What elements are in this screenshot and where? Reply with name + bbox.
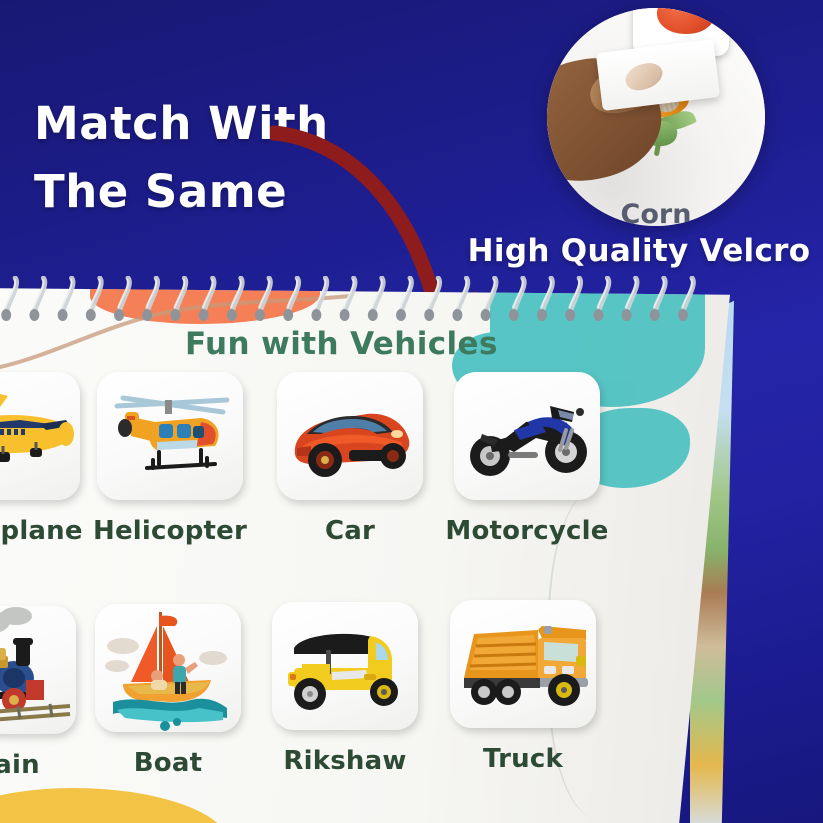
aeroplane-icon — [0, 372, 80, 500]
velcro-photo-inset: Corn — [547, 8, 765, 226]
vehicle-cell-car[interactable]: Car — [260, 372, 440, 546]
headline: Match With The Same — [34, 90, 454, 226]
boat-card[interactable] — [95, 604, 241, 732]
vehicle-label: Helicopter — [80, 516, 260, 546]
vehicle-row-1: Aeroplane — [0, 372, 705, 602]
car-icon — [277, 372, 423, 500]
velcro-caption: High Quality Velcro — [455, 233, 823, 269]
boat-icon — [95, 604, 241, 732]
vehicle-label: Rikshaw — [255, 746, 435, 776]
train-icon — [0, 606, 76, 734]
car-card[interactable] — [277, 372, 423, 500]
page-title: Fun with Vehicles — [185, 326, 498, 362]
vehicle-cell-helicopter[interactable]: Helicopter — [80, 372, 260, 546]
corn-label: Corn — [547, 199, 765, 226]
vehicle-label: Boat — [78, 748, 258, 778]
headline-line-1: Match With — [34, 90, 454, 158]
vehicle-card-grid: Aeroplane — [0, 372, 705, 823]
rikshaw-icon — [272, 602, 418, 730]
helicopter-card[interactable] — [97, 372, 243, 500]
motorcycle-icon — [454, 372, 600, 500]
vehicle-row-2: Train — [0, 602, 705, 823]
product-promo-image: Match With The Same Corn — [0, 0, 823, 823]
blob-orange-decoration — [90, 288, 320, 324]
vehicle-cell-motorcycle[interactable]: Motorcycle — [437, 372, 617, 546]
aeroplane-card[interactable] — [0, 372, 80, 500]
rikshaw-card[interactable] — [272, 602, 418, 730]
headline-line-2: The Same — [34, 158, 454, 226]
vehicle-label: Car — [260, 516, 440, 546]
truck-icon — [450, 600, 596, 728]
truck-card[interactable] — [450, 600, 596, 728]
helicopter-icon — [97, 372, 243, 500]
vehicle-label: Truck — [433, 744, 613, 774]
train-card[interactable] — [0, 606, 76, 734]
motorcycle-card[interactable] — [454, 372, 600, 500]
vehicle-cell-rikshaw[interactable]: Rikshaw — [255, 602, 435, 776]
vehicle-label: Motorcycle — [437, 516, 617, 546]
vehicle-cell-boat[interactable]: Boat — [78, 604, 258, 778]
vehicle-cell-truck[interactable]: Truck — [433, 600, 613, 774]
